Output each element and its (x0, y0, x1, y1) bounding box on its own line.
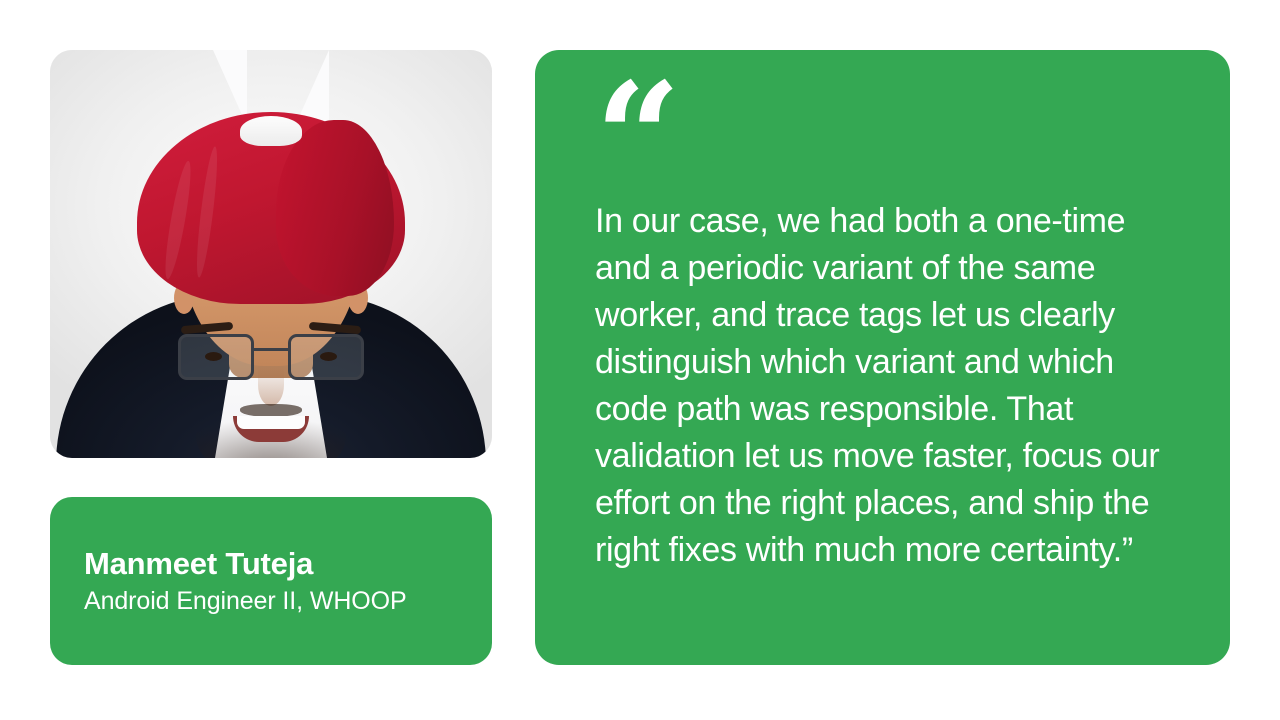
turban-fold (338, 152, 371, 278)
turban-fold (193, 146, 221, 278)
turban-fold (161, 160, 196, 281)
person-role: Android Engineer II, WHOOP (84, 586, 458, 616)
quote-card: “ In our case, we had both a one-time an… (535, 50, 1230, 665)
glasses-bridge (254, 348, 288, 351)
quote-text: In our case, we had both a one-time and … (595, 198, 1178, 574)
turban-knot (240, 116, 302, 146)
portrait-photo (50, 50, 492, 458)
testimonial-card: Manmeet Tuteja Android Engineer II, WHOO… (0, 0, 1280, 720)
person-name: Manmeet Tuteja (84, 546, 458, 582)
teeth (237, 416, 305, 429)
name-card: Manmeet Tuteja Android Engineer II, WHOO… (50, 497, 492, 665)
eye-left (205, 352, 222, 361)
eye-right (320, 352, 337, 361)
portrait-card (50, 50, 492, 458)
quotation-mark-icon: “ (595, 92, 1178, 170)
